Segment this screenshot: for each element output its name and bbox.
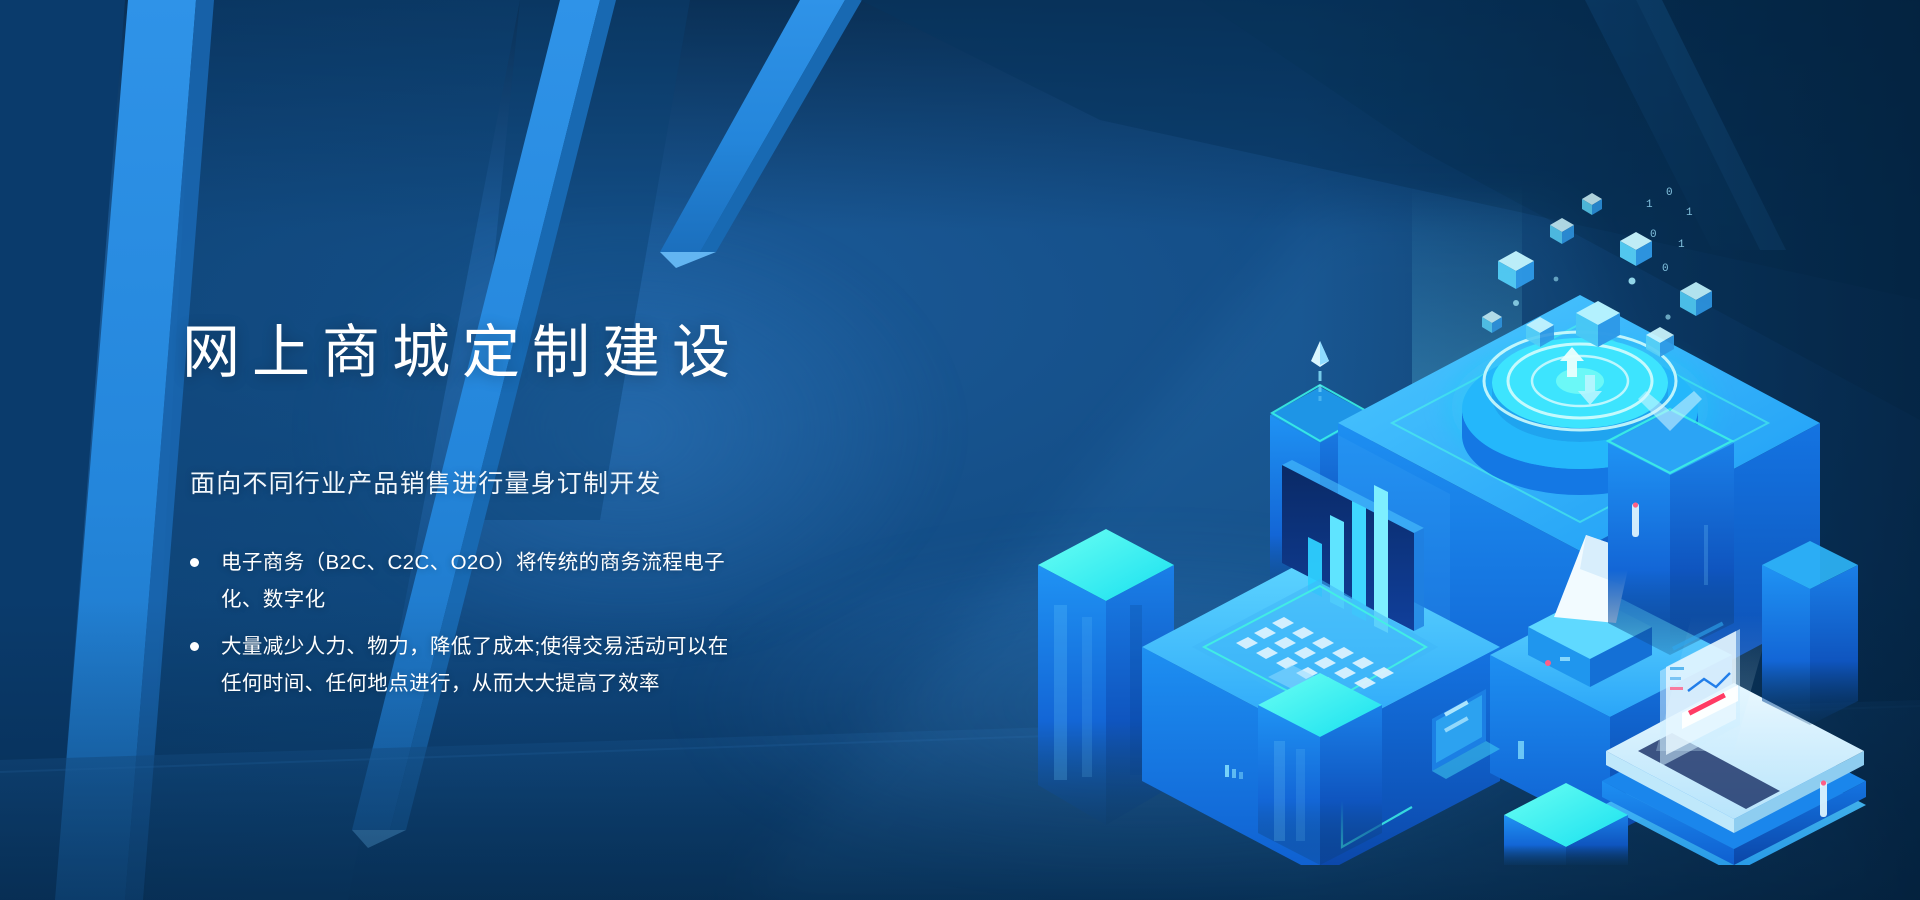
- svg-text:0: 0: [1666, 187, 1673, 199]
- list-item: 大量减少人力、物力，降低了成本;使得交易活动可以在任何时间、任何地点进行，从而大…: [186, 628, 746, 702]
- bullet-dot-icon: [190, 558, 199, 567]
- svg-text:0: 0: [1650, 229, 1657, 241]
- svg-text:1: 1: [1686, 207, 1693, 219]
- beam-accent-right-cap: [660, 252, 716, 268]
- svg-text:1: 1: [1646, 199, 1653, 211]
- beam-accent-right: [660, 0, 845, 252]
- list-item-text: 大量减少人力、物力，降低了成本;使得交易活动可以在任何时间、任何地点进行，从而大…: [221, 635, 729, 695]
- list-item: 电子商务（B2C、C2C、O2O）将传统的商务流程电子化、数字化: [186, 544, 746, 618]
- pillar-front-center: [1258, 673, 1382, 865]
- banner-stage: 1 0 1 0 1 0: [0, 0, 1920, 900]
- binary-stream: 1 0 1 0 1 0: [1646, 187, 1693, 275]
- list-item-text: 电子商务（B2C、C2C、O2O）将传统的商务流程电子化、数字化: [221, 551, 725, 611]
- page-subtitle: 面向不同行业产品销售进行量身订制开发: [190, 469, 662, 499]
- bar-4: [1374, 485, 1388, 633]
- svg-text:1: 1: [1678, 239, 1685, 251]
- bullet-dot-icon: [190, 642, 199, 651]
- feature-list: 电子商务（B2C、C2C、O2O）将传统的商务流程电子化、数字化 大量减少人力、…: [186, 544, 746, 702]
- svg-text:0: 0: [1662, 263, 1669, 275]
- pillar-right-tall: [1762, 541, 1858, 725]
- page-title: 网上商城定制建设: [182, 324, 742, 382]
- isometric-ecommerce-illustration: 1 0 1 0 1 0: [1020, 185, 1920, 865]
